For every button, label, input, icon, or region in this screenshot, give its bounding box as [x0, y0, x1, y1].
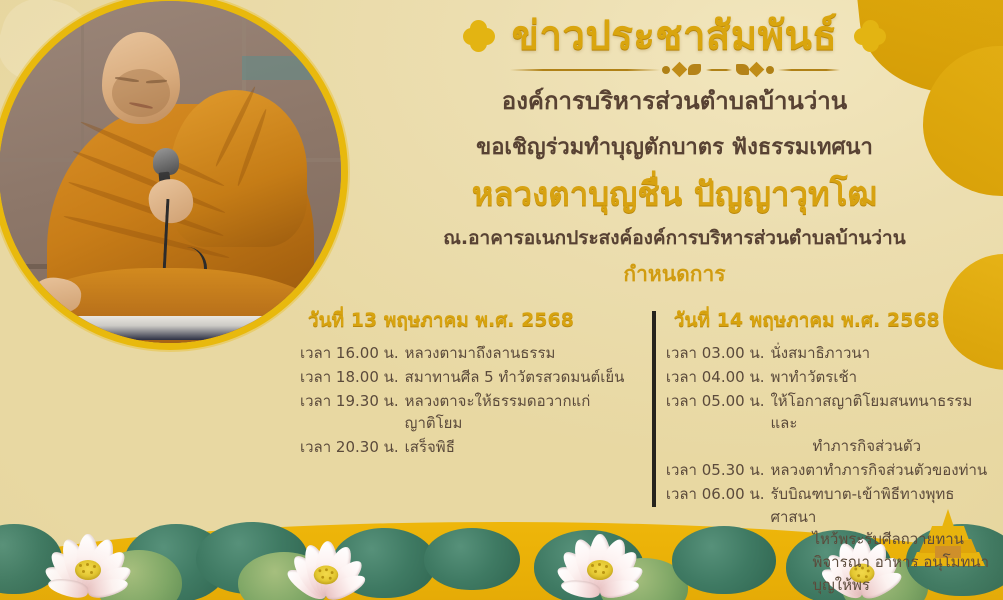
schedule-row: เวลา 19.30 น. หลวงตาจะให้ธรรมดอวากแก่ญาต…	[300, 390, 632, 436]
schedule-section: วันที่ 13 พฤษภาคม พ.ศ. 2568 เวลา 16.00 น…	[300, 305, 990, 598]
title-row: ข่าวประชาสัมพันธ์	[362, 14, 987, 59]
slot-text: สมาทานศีล 5 ทำวัตรสวดมนต์เย็น	[405, 366, 632, 389]
slot-time: เวลา 18.00 น.	[300, 366, 405, 389]
monk-name: หลวงตาบุญชื่น ปัญญาวุทโฒ	[362, 171, 987, 217]
slot-text: รับบิณฑบาต-เข้าพิธีทางพุทธศาสนา ไหว้พระร…	[770, 483, 990, 597]
slot-time: เวลา 06.00 น.	[666, 483, 771, 597]
schedule-row: เวลา 20.30 น. เสร็จพิธี	[300, 436, 632, 459]
schedule-row: เวลา 04.00 น. พาทำวัตรเช้า	[666, 366, 990, 389]
slot-text: หลวงตามาถึงลานธรรม	[405, 342, 632, 365]
schedule-row: เวลา 18.00 น. สมาทานศีล 5 ทำวัตรสวดมนต์เ…	[300, 366, 632, 389]
monk-portrait	[0, 0, 348, 350]
agenda-label: กำหนดการ	[362, 258, 987, 291]
slot-time: เวลา 16.00 น.	[300, 342, 405, 365]
quatrefoil-ornament-right	[855, 21, 885, 51]
organization-name: องค์การบริหารส่วนตำบลบ้านว่าน	[362, 83, 987, 119]
slot-text-line1: รับบิณฑบาต-เข้าพิธีทางพุทธศาสนา	[770, 485, 954, 526]
schedule-row: เวลา 03.00 น. นั่งสมาธิภาวนา	[666, 342, 990, 365]
schedule-row: เวลา 06.00 น. รับบิณฑบาต-เข้าพิธีทางพุทธ…	[666, 483, 990, 597]
slot-time: เวลา 03.00 น.	[666, 342, 771, 365]
day1-heading: วันที่ 13 พฤษภาคม พ.ศ. 2568	[308, 305, 632, 335]
slot-text: นั่งสมาธิภาวนา	[770, 342, 990, 365]
schedule-column-day1: วันที่ 13 พฤษภาคม พ.ศ. 2568 เวลา 16.00 น…	[300, 305, 646, 598]
slot-text: หลวงตาจะให้ธรรมดอวากแก่ญาติโยม	[405, 390, 632, 436]
poster-header: ข่าวประชาสัมพันธ์ องค์การบริหารส่วนตำบลบ…	[362, 14, 987, 291]
schedule-column-day2: วันที่ 14 พฤษภาคม พ.ศ. 2568 เวลา 03.00 น…	[646, 305, 990, 598]
page-title: ข่าวประชาสัมพันธ์	[512, 14, 838, 59]
venue-line: ณ.อาคารอเนกประสงค์องค์การบริหารส่วนตำบลบ…	[362, 224, 987, 253]
slot-text-line1: ให้โอกาสญาติโยมสนทนาธรรมและ	[770, 392, 972, 433]
title-flourish-divider	[510, 63, 840, 77]
slot-time: เวลา 20.30 น.	[300, 436, 405, 459]
slot-text: หลวงตาทำภารกิจส่วนตัวของท่าน	[770, 459, 990, 482]
poster-canvas: ข่าวประชาสัมพันธ์ องค์การบริหารส่วนตำบลบ…	[0, 0, 1003, 600]
slot-text-line2: ทำภารกิจส่วนตัว	[770, 435, 990, 458]
invitation-line: ขอเชิญร่วมทำบุญตักบาตร ฟังธรรมเทศนา	[362, 131, 987, 164]
slot-time: เวลา 05.00 น.	[666, 390, 771, 458]
schedule-row: เวลา 05.00 น. ให้โอกาสญาติโยมสนทนาธรรมแล…	[666, 390, 990, 458]
quatrefoil-ornament-left	[464, 21, 494, 51]
portrait-illustration	[0, 1, 341, 343]
slot-text: เสร็จพิธี	[405, 436, 632, 459]
portrait-gold-ring	[0, 0, 348, 350]
slot-text: ให้โอกาสญาติโยมสนทนาธรรมและ ทำภารกิจส่วน…	[770, 390, 990, 458]
schedule-row: เวลา 05.30 น. หลวงตาทำภารกิจส่วนตัวของท่…	[666, 459, 990, 482]
slot-time: เวลา 04.00 น.	[666, 366, 771, 389]
slot-time: เวลา 19.30 น.	[300, 390, 405, 436]
schedule-row: เวลา 16.00 น. หลวงตามาถึงลานธรรม	[300, 342, 632, 365]
slot-time: เวลา 05.30 น.	[666, 459, 771, 482]
slot-text-line2: ไหว้พระรับศีลถวายทาน พิจารณา อาหาร อนุโม…	[770, 528, 990, 596]
slot-text: พาทำวัตรเช้า	[770, 366, 990, 389]
lotus-flower	[34, 506, 142, 598]
day2-heading: วันที่ 14 พฤษภาคม พ.ศ. 2568	[674, 305, 990, 335]
schedule-column-divider	[652, 311, 656, 507]
